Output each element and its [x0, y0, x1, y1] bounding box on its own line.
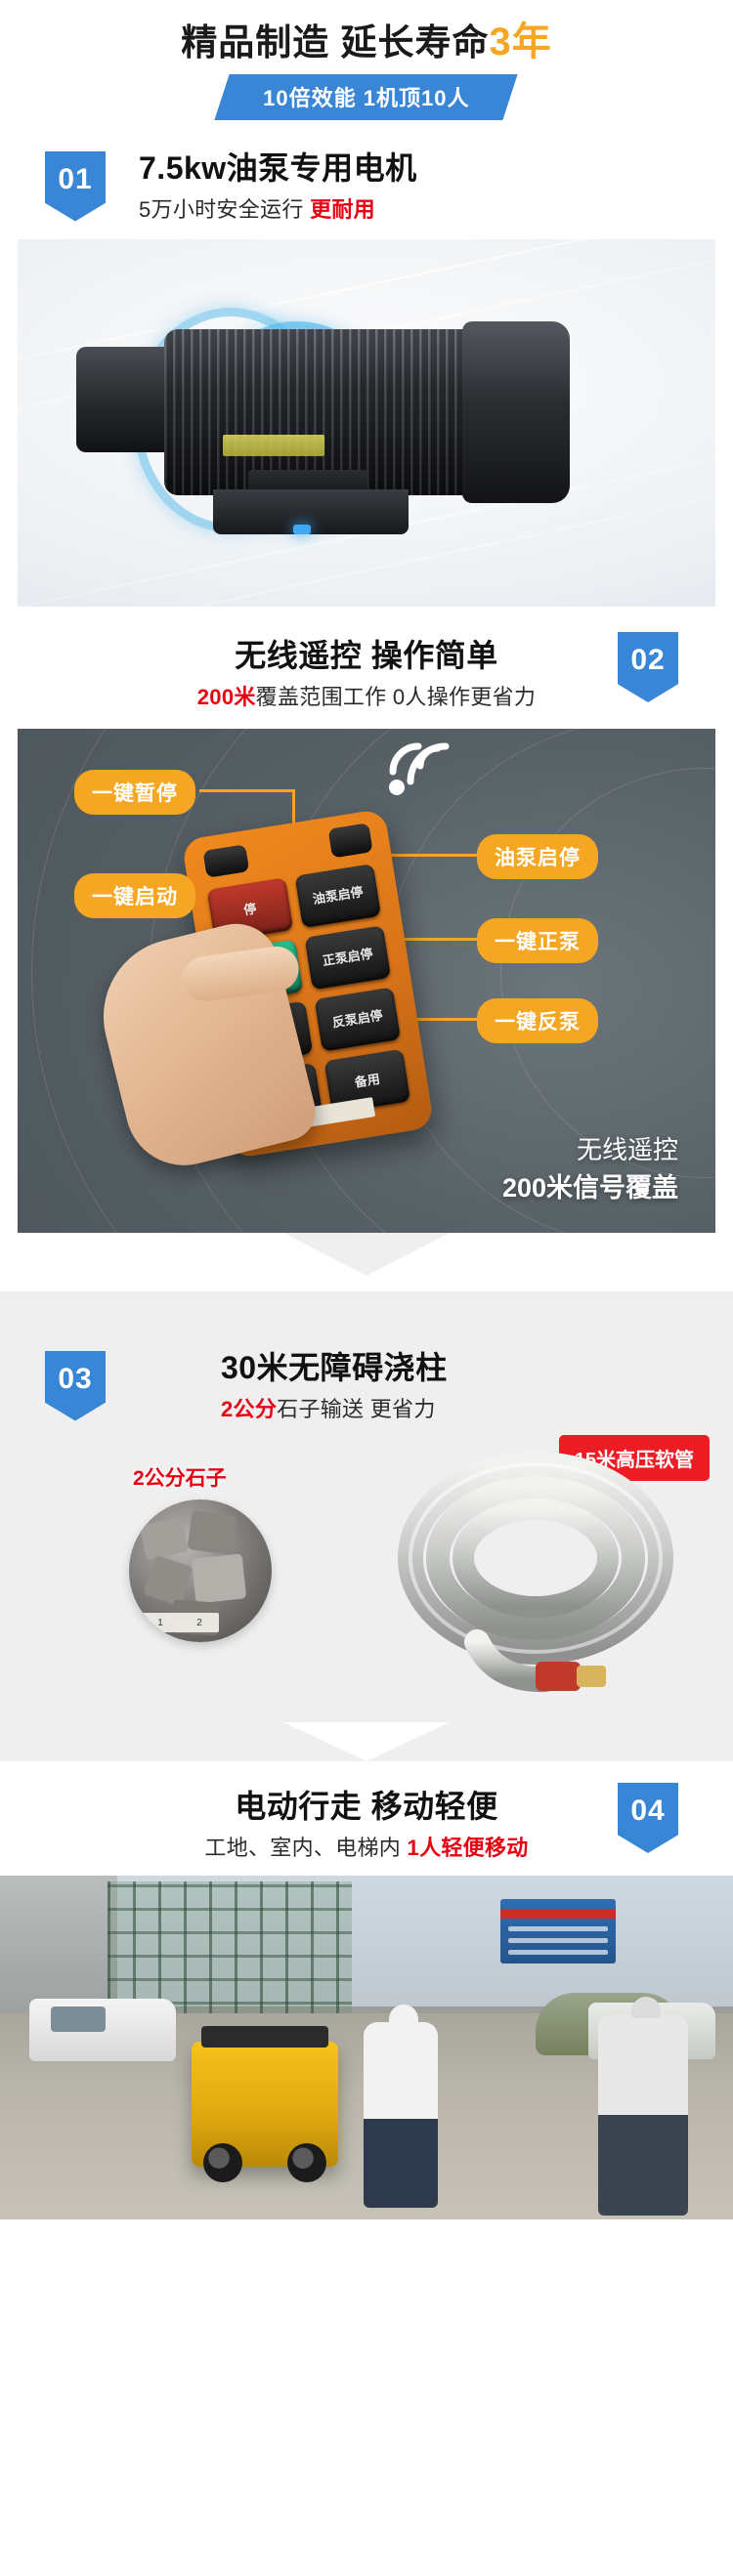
page-title-accent: 3年: [490, 21, 552, 63]
section-02-subtitle-red: 200米: [197, 685, 256, 709]
callout-start: 一键启动: [74, 873, 195, 918]
signboard-red-strip: [500, 1909, 616, 1919]
remote-key-forward-pump[interactable]: 正泵启停: [305, 925, 391, 990]
section-03-subtitle-plain: 石子输送 更省力: [277, 1397, 436, 1421]
remote-power-knob: [328, 823, 373, 858]
section-01-titles: 7.5kw油泵专用电机 5万小时安全运行 更耐用: [139, 148, 417, 224]
section-02-badge: 02: [618, 632, 678, 702]
remote-note-line-2: 200米信号覆盖: [502, 1169, 678, 1207]
section-01-title: 7.5kw油泵专用电机: [139, 148, 417, 188]
section-04-header: 电动行走 移动轻便 工地、室内、电梯内 1人轻便移动 04: [0, 1761, 733, 1876]
header-banner: 10倍效能 1机顶10人: [215, 74, 519, 120]
page-header: 精品制造 延长寿命3年 10倍效能 1机顶10人: [0, 0, 733, 127]
header-banner-label: 10倍效能 1机顶10人: [264, 81, 470, 112]
remote-photo: 停 油泵启停 动 正泵启停 备用 反泵启停 备用 备用 一键暂停 一键启动 油泵…: [18, 729, 715, 1233]
gravel-sample-photo: 1 2: [129, 1499, 272, 1642]
section-03-notch: [0, 1291, 733, 1330]
section-03-titles: 30米无障碍浇柱 2公分石子输送 更省力: [221, 1348, 448, 1423]
hose-photo: 15米高压软管 2公分石子 1: [0, 1429, 733, 1722]
hose-coil: [389, 1451, 682, 1695]
site-photo: [0, 1876, 733, 2219]
section-01-badge: 01: [45, 151, 106, 222]
section-01-subtitle-plain: 5万小时安全运行: [139, 197, 310, 222]
machine-wheel-right: [287, 2143, 326, 2182]
motor-photo: [18, 239, 715, 607]
section-01-subtitle: 5万小时安全运行 更耐用: [139, 192, 417, 224]
section-04-notch: [0, 1722, 733, 1761]
remote-key-pump-toggle[interactable]: 油泵启停: [295, 864, 381, 928]
site-worker-center: [364, 2022, 438, 2208]
remote-key-reverse-pump[interactable]: 反泵启停: [315, 987, 401, 1051]
section-04-subtitle-red: 1人轻便移动: [408, 1836, 529, 1860]
section-remote: 无线遥控 操作简单 200米覆盖范围工作 0人操作更省力 02: [0, 607, 733, 1233]
site-worker-right-helmet: [631, 1997, 661, 2018]
concrete-pump-machine: [192, 2042, 338, 2167]
remote-coverage-note: 无线遥控 200米信号覆盖: [502, 1132, 678, 1207]
motor-terminal-box: [76, 347, 178, 452]
divider-shape: [0, 1233, 733, 1276]
gravel-ruler: 1 2: [141, 1613, 219, 1632]
machine-wheel-left: [203, 2143, 242, 2182]
section-03-subtitle: 2公分石子输送 更省力: [221, 1392, 448, 1423]
section-hose: 03 30米无障碍浇柱 2公分石子输送 更省力 15米高压软管: [0, 1291, 733, 1722]
section-motor: 01 7.5kw油泵专用电机 5万小时安全运行 更耐用: [0, 127, 733, 607]
callout-pump-toggle: 油泵启停: [477, 834, 598, 879]
section-04-subtitle-plain: 工地、室内、电梯内: [204, 1836, 407, 1860]
page-title-main: 精品制造 延长寿命: [181, 22, 489, 63]
gravel-size-label: 2公分石子: [133, 1462, 227, 1492]
machine-top-rail: [201, 2026, 328, 2048]
callout-reverse-pump: 一键反泵: [477, 998, 598, 1043]
section-divider-arrow: [0, 1233, 733, 1291]
site-worker-helmet: [389, 2005, 418, 2026]
section-01-header: 01 7.5kw油泵专用电机 5万小时安全运行 更耐用: [0, 127, 733, 233]
section-site: 电动行走 移动轻便 工地、室内、电梯内 1人轻便移动 04: [0, 1722, 733, 2219]
ruler-tick-1: 1: [157, 1618, 163, 1628]
section-04-subtitle: 工地、室内、电梯内 1人轻便移动: [204, 1831, 528, 1862]
callout-forward-pump: 一键正泵: [477, 918, 598, 963]
section-02-header: 无线遥控 操作简单 200米覆盖范围工作 0人操作更省力 02: [0, 607, 733, 723]
site-signboard: [500, 1899, 616, 1964]
section-02-titles: 无线遥控 操作简单 200米覆盖范围工作 0人操作更省力: [197, 636, 536, 711]
callout-lead-line: [199, 789, 295, 792]
section-04-titles: 电动行走 移动轻便 工地、室内、电梯内 1人轻便移动: [204, 1787, 528, 1862]
site-van-window: [51, 2006, 106, 2032]
callout-pause: 一键暂停: [74, 770, 195, 815]
wifi-icon: [387, 742, 457, 797]
section-02-subtitle-plain: 覆盖范围工作 0人操作更省力: [256, 685, 537, 709]
remote-emergency-knob: [202, 844, 249, 878]
section-03-title: 30米无障碍浇柱: [221, 1348, 448, 1387]
motor-end-cap: [462, 321, 570, 503]
section-03-header: 03 30米无障碍浇柱 2公分石子输送 更省力: [0, 1330, 733, 1429]
section-03-subtitle-red: 2公分: [221, 1397, 277, 1421]
section-04-badge: 04: [618, 1783, 678, 1853]
callout-lead-line: [389, 854, 477, 857]
site-worker-right: [598, 2014, 688, 2216]
section-04-title: 电动行走 移动轻便: [204, 1787, 528, 1826]
section-02-subtitle: 200米覆盖范围工作 0人操作更省力: [197, 680, 536, 711]
page-title: 精品制造 延长寿命3年: [0, 0, 733, 66]
motor-nameplate: [223, 435, 324, 456]
remote-photo-wrap: 停 油泵启停 动 正泵启停 备用 反泵启停 备用 备用 一键暂停 一键启动 油泵…: [0, 723, 733, 1233]
section-01-subtitle-red: 更耐用: [310, 197, 375, 222]
section-02-title: 无线遥控 操作简单: [197, 636, 536, 675]
section-03-badge: 03: [45, 1351, 106, 1421]
motor-base: [213, 489, 409, 534]
motor-indicator-led: [293, 525, 311, 534]
ruler-tick-2: 2: [196, 1618, 202, 1628]
remote-note-line-1: 无线遥控: [502, 1132, 678, 1169]
motor-photo-wrap: [0, 233, 733, 607]
header-banner-wrap: 10倍效能 1机顶10人: [0, 74, 733, 120]
